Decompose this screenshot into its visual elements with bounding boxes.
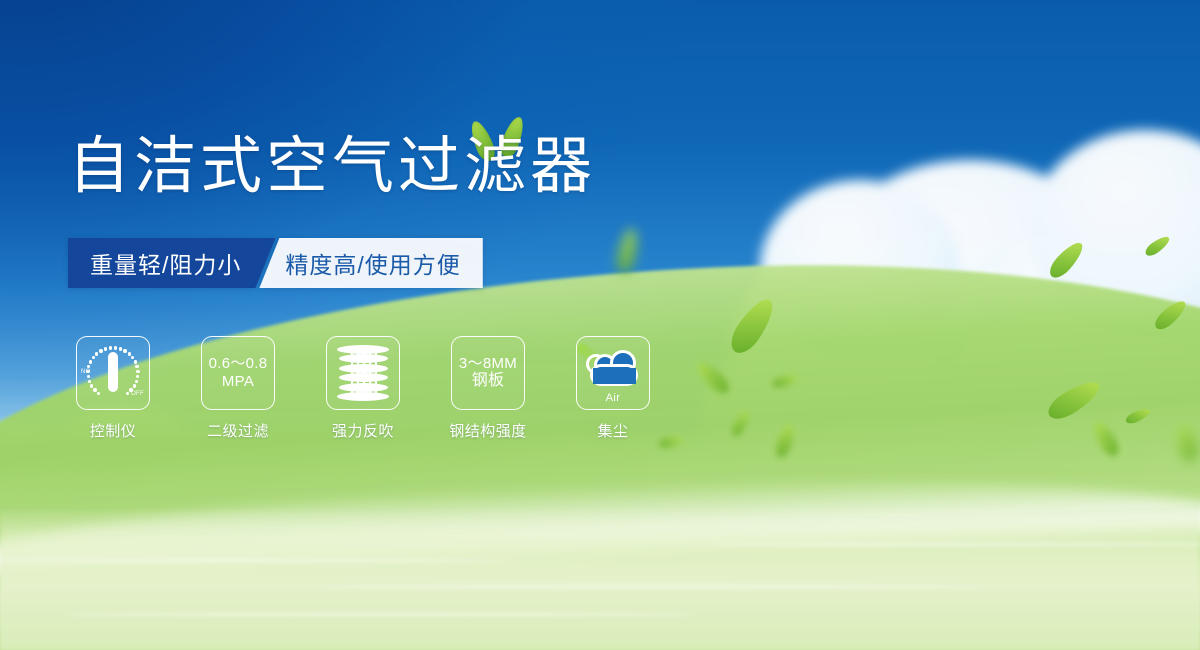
feature-card[interactable]: 3～8MM 钢板 — [451, 336, 525, 410]
feature-card[interactable]: 0.6～0.8 MPA — [201, 336, 275, 410]
pressure-unit: MPA — [209, 373, 268, 391]
dial-tick — [126, 392, 129, 395]
dial-tick — [123, 349, 126, 352]
pressure-range: 0.6～0.8 — [209, 355, 268, 373]
feature-steel-strength[interactable]: 3～8MM 钢板 钢结构强度 — [451, 336, 525, 441]
dial-tick — [136, 375, 139, 378]
dial-tick — [87, 365, 90, 368]
dial-tick — [135, 380, 138, 383]
dial-tick — [89, 360, 92, 363]
control-dial-icon: NO OFF — [82, 343, 144, 403]
filter-pleat — [369, 349, 371, 396]
feature-card[interactable]: Air — [576, 336, 650, 410]
dial-tick — [133, 384, 136, 387]
steel-thickness: 3～8MM — [459, 355, 517, 373]
dial-tick — [136, 370, 139, 373]
feature-two-stage-filter[interactable]: 0.6～0.8 MPA 二级过滤 — [201, 336, 275, 441]
feature-strong-backblow[interactable]: 强力反吹 — [326, 336, 400, 441]
feature-label: 强力反吹 — [332, 420, 394, 441]
subtitle-left: 重量轻/阻力小 — [68, 238, 275, 288]
steel-plate-icon: 3～8MM 钢板 — [459, 355, 517, 392]
dial-tick — [93, 388, 96, 391]
subtitle-right: 精度高/使用方便 — [259, 238, 482, 288]
product-banner: 自洁式空气过滤器 重量轻/阻力小 精度高/使用方便 NO OFF 控制仪 0.6… — [0, 0, 1200, 650]
feature-label: 控制仪 — [90, 420, 137, 441]
feature-label: 二级过滤 — [207, 420, 269, 441]
dial-tick — [128, 352, 131, 355]
filter-pleat — [363, 349, 365, 396]
filter-discs-icon — [337, 345, 389, 401]
dial-tick — [104, 347, 107, 350]
page-title: 自洁式空气过滤器 — [68, 136, 596, 198]
pressure-value-icon: 0.6～0.8 MPA — [209, 355, 268, 390]
dial-tick — [92, 356, 95, 359]
feature-control-dial[interactable]: NO OFF 控制仪 — [76, 336, 150, 441]
dial-tick — [134, 360, 137, 363]
dial-tick — [99, 349, 102, 352]
feature-label: 集尘 — [597, 420, 628, 441]
air-cloud-icon: Air — [582, 344, 644, 402]
dial-tick — [119, 347, 122, 350]
feature-dust-collection[interactable]: Air 集尘 — [576, 336, 650, 441]
feature-list: NO OFF 控制仪 0.6～0.8 MPA 二级过滤 强力反吹 — [76, 336, 650, 441]
cloud-mask — [593, 368, 636, 384]
filter-pleat — [351, 349, 353, 396]
feature-card[interactable] — [326, 336, 400, 410]
dial-tick — [131, 356, 134, 359]
feature-label: 钢结构强度 — [449, 420, 527, 441]
dial-tick — [129, 388, 132, 391]
dial-tick — [95, 352, 98, 355]
dial-tick — [88, 380, 91, 383]
dial-tick — [97, 392, 100, 395]
dial-tick — [114, 346, 117, 349]
subtitle-bar: 重量轻/阻力小 精度高/使用方便 — [68, 238, 483, 288]
steel-material: 钢板 — [459, 372, 517, 391]
foreground-meadow — [0, 510, 1200, 650]
floating-leaf — [614, 227, 640, 276]
dial-tick — [109, 346, 112, 349]
grass-streak — [60, 613, 700, 616]
air-label: Air — [582, 392, 644, 404]
dial-off-label: OFF — [131, 391, 144, 397]
feature-card[interactable]: NO OFF — [76, 336, 150, 410]
dial-needle — [108, 352, 118, 392]
dial-tick — [90, 384, 93, 387]
grass-streak — [300, 585, 1000, 588]
filter-pleat — [357, 349, 359, 396]
filter-pleat — [375, 349, 377, 396]
dial-tick — [135, 365, 138, 368]
dial-tick — [87, 375, 90, 378]
